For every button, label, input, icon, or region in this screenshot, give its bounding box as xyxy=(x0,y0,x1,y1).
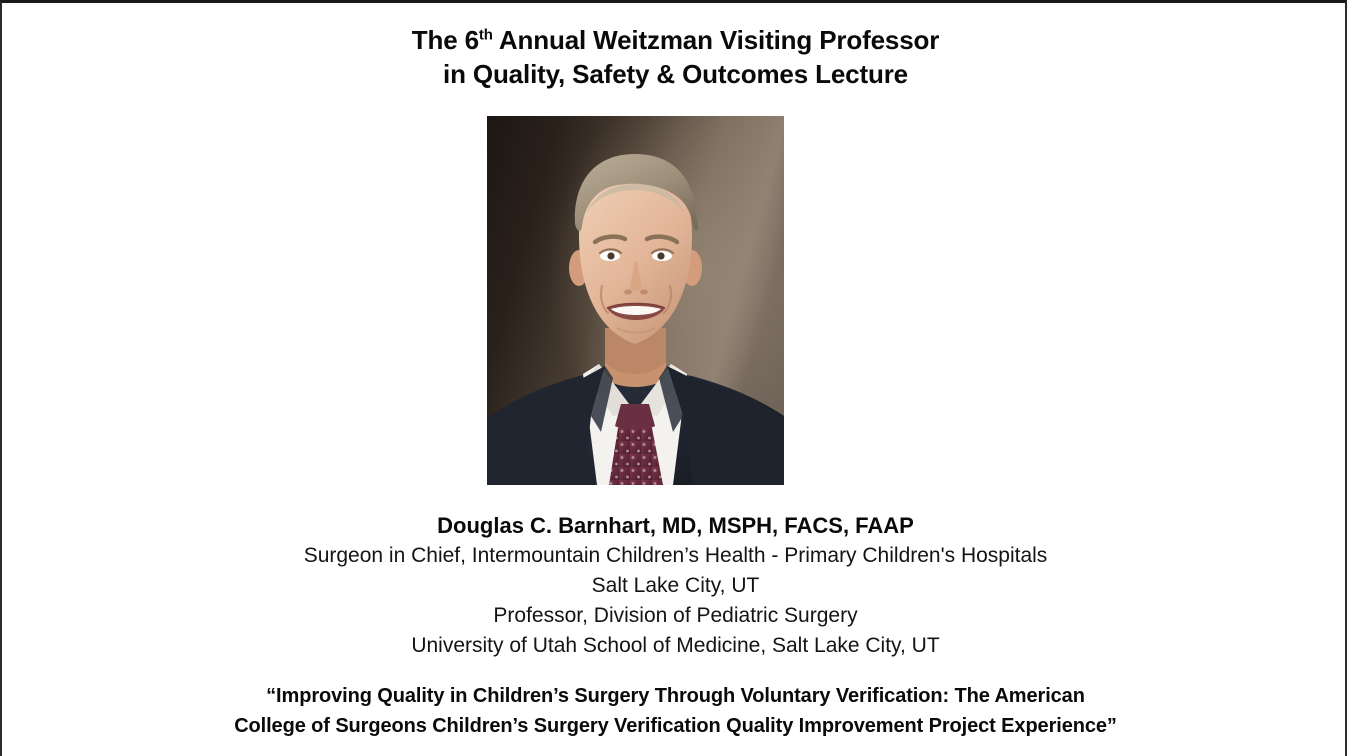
slide-title: The 6th Annual Weitzman Visiting Profess… xyxy=(2,23,1347,91)
portrait-illustration xyxy=(487,116,784,485)
speaker-affiliation-line-1: Surgeon in Chief, Intermountain Children… xyxy=(2,541,1347,571)
lecture-title-line-2: College of Surgeons Children’s Surgery V… xyxy=(2,711,1347,741)
speaker-name: Douglas C. Barnhart, MD, MSPH, FACS, FAA… xyxy=(2,511,1347,541)
lecture-title: “Improving Quality in Children’s Surgery… xyxy=(2,681,1347,741)
speaker-portrait-photo xyxy=(487,116,784,485)
title-ordinal-superscript: th xyxy=(479,26,493,43)
presentation-slide: The 6th Annual Weitzman Visiting Profess… xyxy=(0,0,1347,756)
title-line-2: in Quality, Safety & Outcomes Lecture xyxy=(2,57,1347,91)
speaker-affiliation-line-3: Professor, Division of Pediatric Surgery xyxy=(2,601,1347,631)
speaker-info: Douglas C. Barnhart, MD, MSPH, FACS, FAA… xyxy=(2,511,1347,661)
lecture-title-line-1: “Improving Quality in Children’s Surgery… xyxy=(2,681,1347,711)
title-line-1: The 6th Annual Weitzman Visiting Profess… xyxy=(2,23,1347,57)
speaker-affiliation-line-4: University of Utah School of Medicine, S… xyxy=(2,631,1347,661)
title-line-1-suffix: Annual Weitzman Visiting Professor xyxy=(493,25,939,55)
title-line-1-prefix: The 6 xyxy=(412,25,479,55)
speaker-affiliation-line-2: Salt Lake City, UT xyxy=(2,571,1347,601)
